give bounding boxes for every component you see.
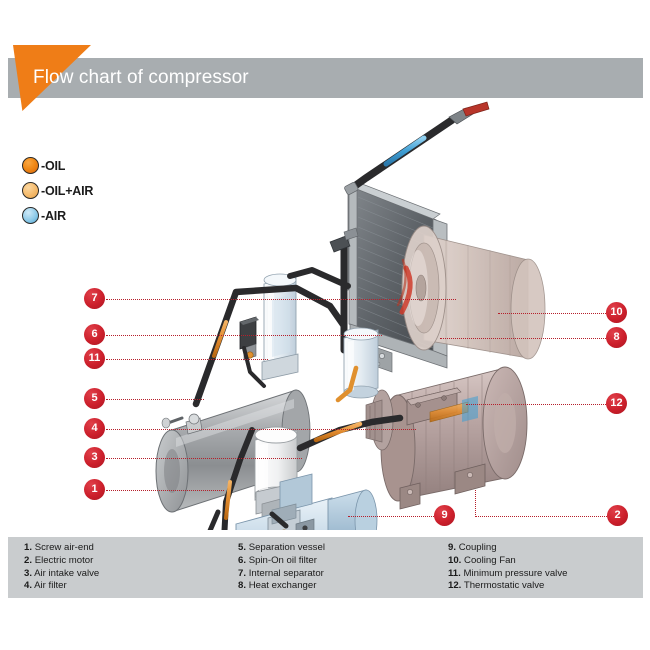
- part-label: Screw air-end: [35, 542, 94, 553]
- part-number: 2.: [24, 555, 32, 566]
- part-label: Cooling Fan: [464, 555, 516, 566]
- electric-motor-group: [381, 367, 527, 509]
- leader-7: [106, 299, 456, 300]
- callout-1[interactable]: 1: [84, 479, 105, 500]
- leader-2-vertical: [475, 490, 476, 517]
- part-number: 1.: [24, 542, 32, 553]
- part-label: Thermostatic valve: [464, 580, 545, 591]
- part-number: 7.: [238, 568, 246, 579]
- callout-8[interactable]: 8: [606, 327, 627, 348]
- list-item: 3. Air intake valve: [24, 568, 99, 581]
- page-title: Flow chart of compressor: [33, 64, 249, 92]
- list-item: 7. Internal separator: [238, 568, 325, 581]
- part-number: 3.: [24, 568, 32, 579]
- list-item: 1. Screw air-end: [24, 542, 99, 555]
- callout-12[interactable]: 12: [606, 393, 627, 414]
- part-label: Internal separator: [249, 568, 324, 579]
- part-number: 4.: [24, 580, 32, 591]
- part-label: Coupling: [459, 542, 497, 553]
- list-item: 10. Cooling Fan: [448, 555, 567, 568]
- part-number: 9.: [448, 542, 456, 553]
- list-item: 5. Separation vessel: [238, 542, 325, 555]
- list-item: 9. Coupling: [448, 542, 567, 555]
- minimum-pressure-valve-group: [240, 317, 259, 360]
- part-label: Spin-On oil filter: [249, 555, 317, 566]
- part-number: 10.: [448, 555, 461, 566]
- callout-10[interactable]: 10: [606, 302, 627, 323]
- part-number: 11.: [448, 568, 461, 579]
- part-label: Air filter: [34, 580, 67, 591]
- part-number: 8.: [238, 580, 246, 591]
- list-item: 11. Minimum pressure valve: [448, 568, 567, 581]
- part-label: Heat exchanger: [249, 580, 317, 591]
- leader-11: [106, 359, 268, 360]
- part-label: Separation vessel: [249, 542, 325, 553]
- callout-11[interactable]: 11: [84, 348, 105, 369]
- diagram-page: Flow chart of compressor -OIL -OIL+AIR -…: [0, 0, 650, 650]
- part-label: Minimum pressure valve: [463, 568, 567, 579]
- leader-8: [440, 338, 606, 339]
- leader-1: [106, 490, 224, 491]
- leader-5: [106, 399, 204, 400]
- list-item: 12. Thermostatic valve: [448, 580, 567, 593]
- callout-5[interactable]: 5: [84, 388, 105, 409]
- leader-6: [106, 335, 382, 336]
- parts-list-column-1: 1. Screw air-end 2. Electric motor 3. Ai…: [24, 542, 99, 593]
- air-hose-top: [344, 102, 489, 195]
- cooling-fan-group: [398, 226, 545, 359]
- leader-3: [106, 458, 302, 459]
- part-label: Air intake valve: [34, 568, 99, 579]
- leader-4: [106, 429, 416, 430]
- part-number: 12.: [448, 580, 461, 591]
- list-item: 6. Spin-On oil filter: [238, 555, 325, 568]
- callout-6[interactable]: 6: [84, 324, 105, 345]
- callout-3[interactable]: 3: [84, 447, 105, 468]
- leader-10: [498, 313, 606, 314]
- parts-list-column-3: 9. Coupling 10. Cooling Fan 11. Minimum …: [448, 542, 567, 593]
- leader-9: [348, 516, 436, 517]
- callout-2[interactable]: 2: [607, 505, 628, 526]
- part-number: 5.: [238, 542, 246, 553]
- callout-9[interactable]: 9: [434, 505, 455, 526]
- callout-4[interactable]: 4: [84, 418, 105, 439]
- callout-7[interactable]: 7: [84, 288, 105, 309]
- list-item: 4. Air filter: [24, 580, 99, 593]
- leader-2: [475, 516, 607, 517]
- list-item: 2. Electric motor: [24, 555, 99, 568]
- list-item: 8. Heat exchanger: [238, 580, 325, 593]
- parts-list-column-2: 5. Separation vessel 6. Spin-On oil filt…: [238, 542, 325, 593]
- leader-12: [466, 404, 606, 405]
- part-number: 6.: [238, 555, 246, 566]
- part-label: Electric motor: [35, 555, 94, 566]
